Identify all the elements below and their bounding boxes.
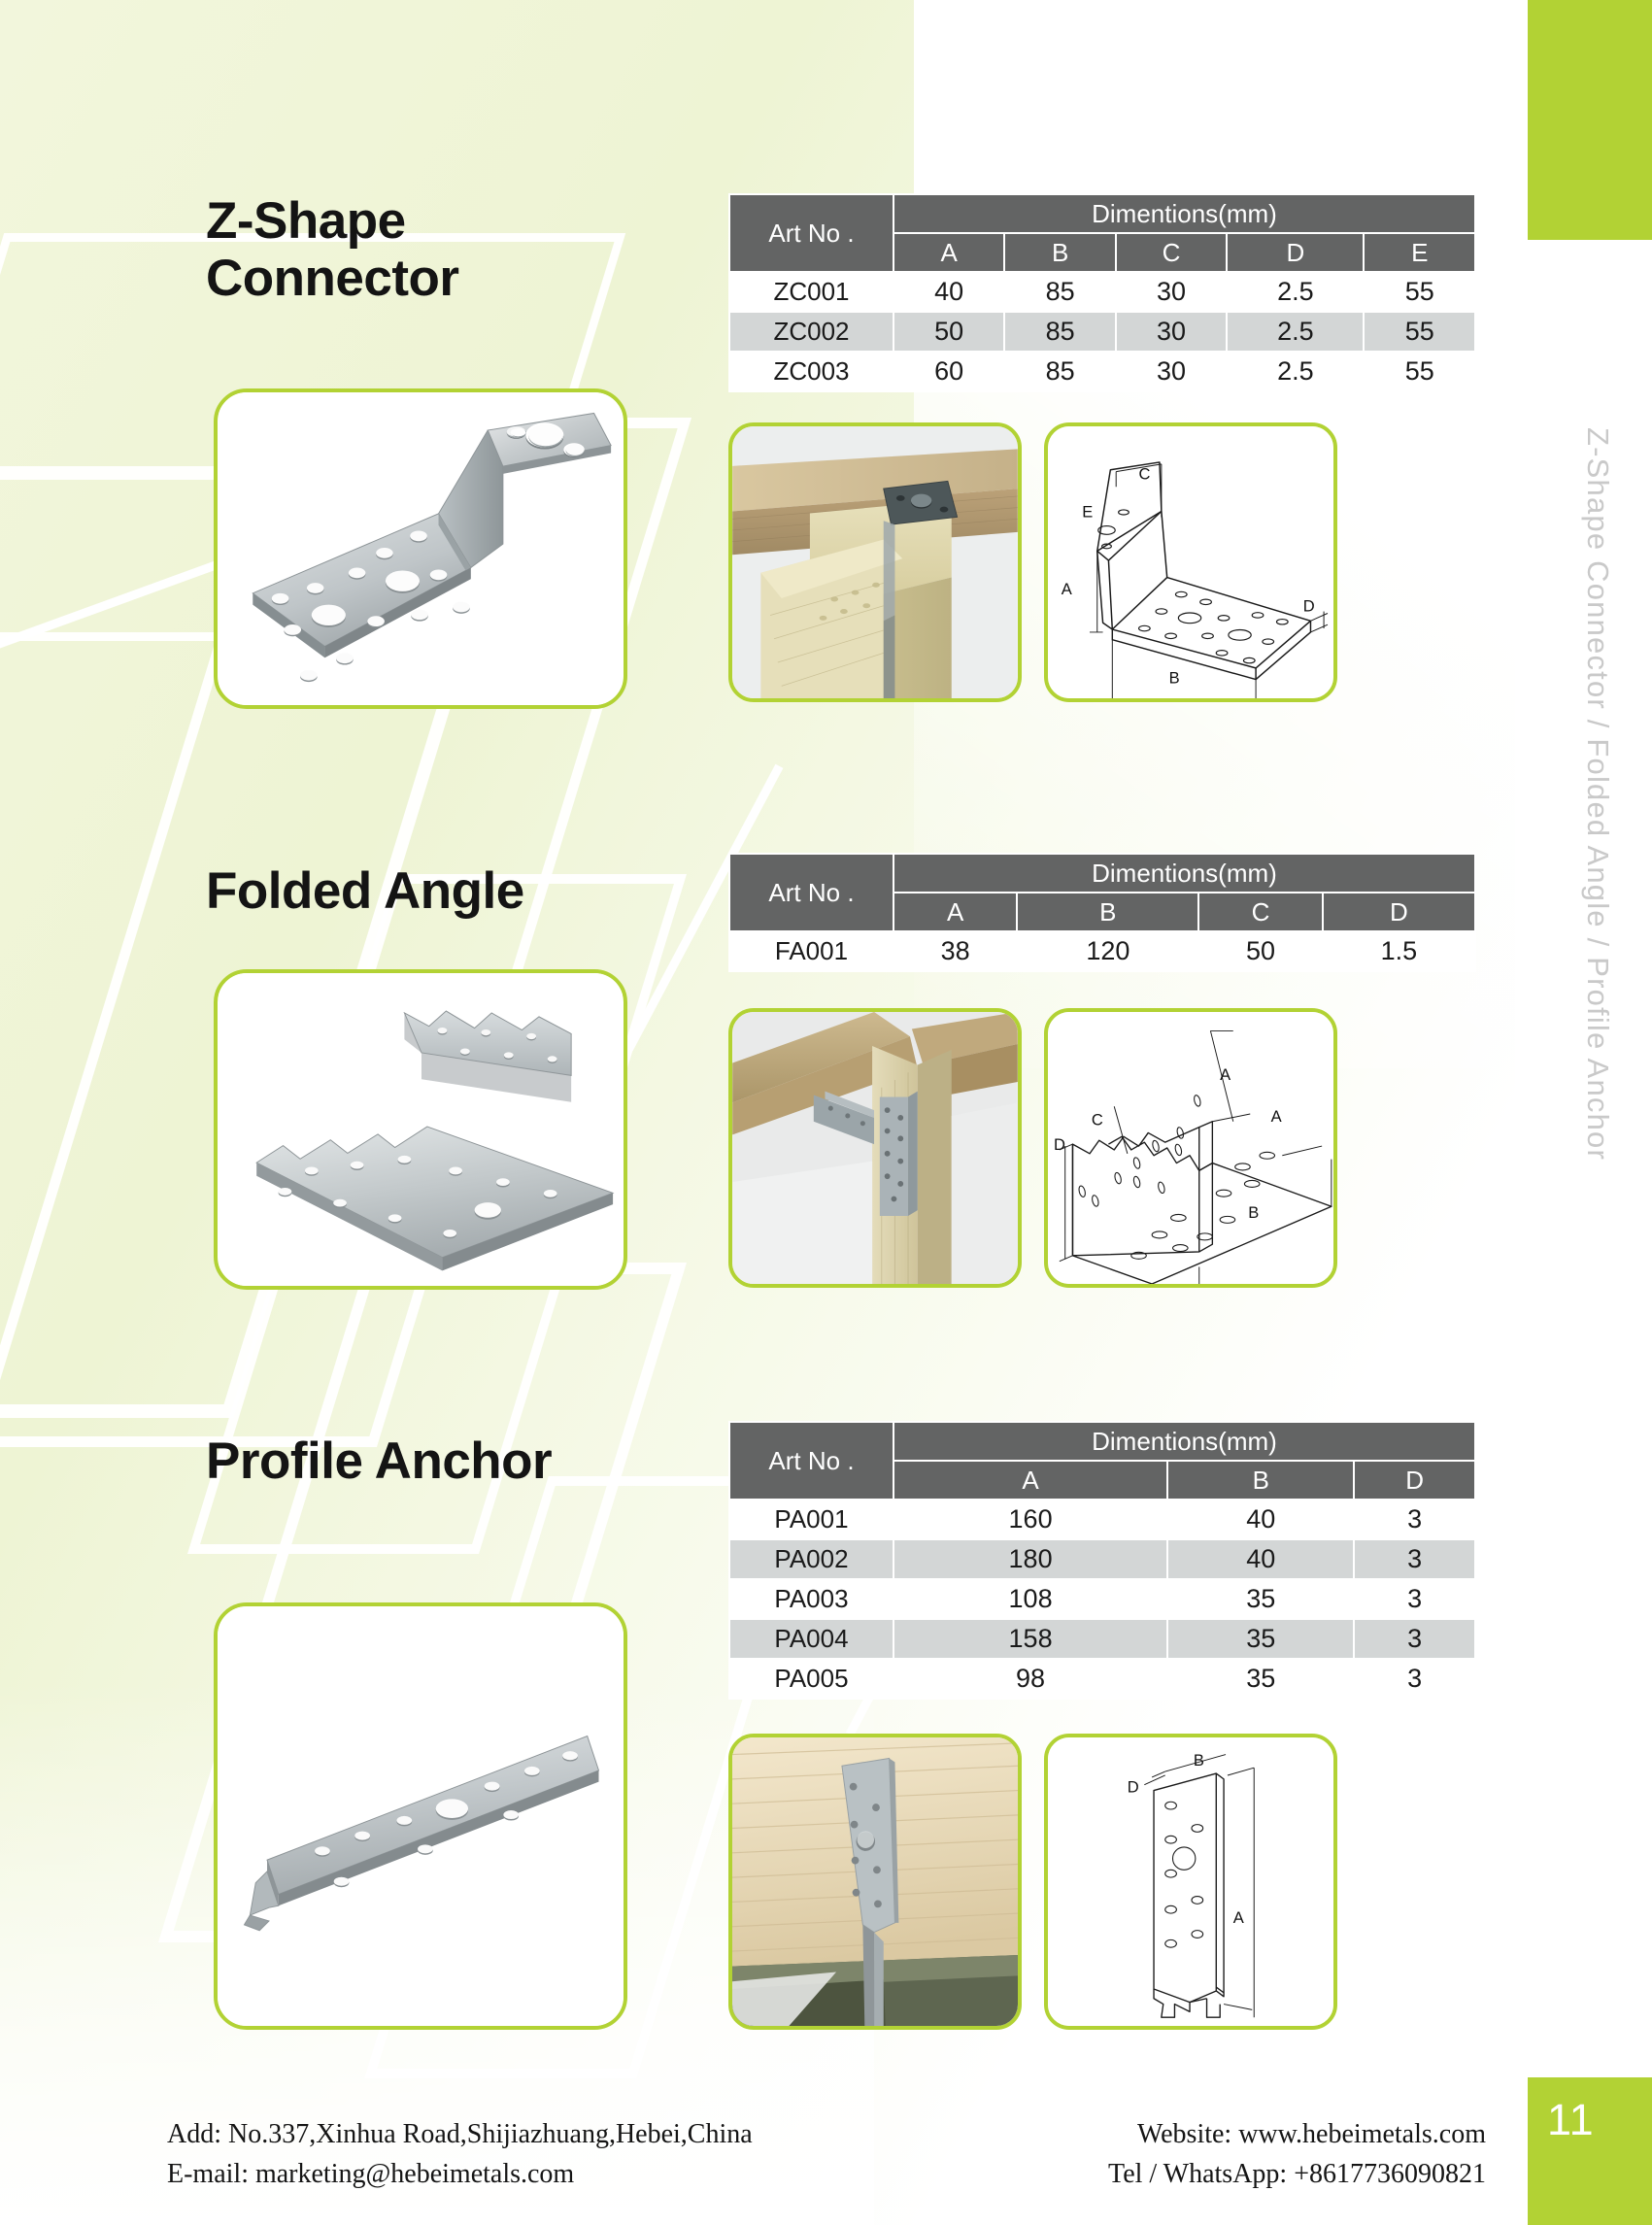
table-header-dim-e: E: [1364, 233, 1475, 272]
cell-art-no: PA001: [729, 1500, 893, 1539]
title-line-2: Connector: [206, 250, 459, 307]
table-header-dim-a: A: [893, 893, 1017, 931]
dim-label-a-horizontal: A: [1271, 1107, 1282, 1126]
cell-art-no: ZC002: [729, 312, 893, 352]
product-photo-profile-anchor: [214, 1602, 627, 2030]
cell-art-no: PA005: [729, 1659, 893, 1699]
cell-dim-d: 2.5: [1227, 272, 1364, 312]
table-header-dim-a: A: [893, 1461, 1167, 1500]
product-photo-folded-angle: [214, 969, 627, 1290]
title-line-1: Folded Angle: [206, 862, 524, 920]
footer-address: Add: No.337,Xinhua Road,Shijiazhuang,Heb…: [167, 2115, 753, 2155]
dim-label-a: A: [1233, 1908, 1244, 1927]
cell-dim-b: 35: [1167, 1659, 1354, 1699]
folded-angle-technical-drawing: A A B C D: [1048, 1012, 1333, 1284]
dim-label-a-vertical: A: [1220, 1065, 1231, 1084]
title-line-1: Z-Shape: [206, 192, 459, 250]
folded-angle-application-photo: [732, 1012, 1018, 1284]
cell-dim-b: 40: [1167, 1500, 1354, 1539]
spec-table-profile-anchor: Art No .Dimentions(mm)ABDPA001160403PA00…: [728, 1421, 1476, 1700]
footer-tel: Tel / WhatsApp: +8617736090821: [991, 2155, 1486, 2195]
dim-label-c: C: [1092, 1111, 1103, 1129]
folded-angle-photo: [218, 973, 624, 1286]
table-header-art-no: Art No .: [729, 1422, 893, 1500]
dim-label-b: B: [1248, 1203, 1259, 1222]
table-header-dimensions: Dimentions(mm): [893, 194, 1475, 233]
table-row: PA00598353: [729, 1659, 1475, 1699]
cell-dim-b: 120: [1017, 931, 1198, 971]
table-header-dimensions: Dimentions(mm): [893, 854, 1475, 893]
cell-dim-a: 160: [893, 1500, 1167, 1539]
dim-label-b: B: [1194, 1751, 1204, 1770]
title-line-1: Profile Anchor: [206, 1433, 552, 1490]
cell-dim-b: 35: [1167, 1579, 1354, 1619]
table-header-dim-d: D: [1354, 1461, 1475, 1500]
cell-dim-d: 3: [1354, 1500, 1475, 1539]
table-header-dim-b: B: [1004, 233, 1115, 272]
dim-label-a: A: [1062, 580, 1072, 598]
cell-dim-e: 55: [1364, 272, 1475, 312]
cell-dim-a: 40: [893, 272, 1004, 312]
technical-drawing-z-shape: A B C D E: [1044, 422, 1337, 702]
cell-dim-a: 38: [893, 931, 1017, 971]
table-row: ZC0025085302.555: [729, 312, 1475, 352]
cell-dim-d: 3: [1354, 1619, 1475, 1659]
table-header-art-no: Art No .: [729, 854, 893, 931]
cell-dim-a: 60: [893, 352, 1004, 391]
cell-dim-a: 50: [893, 312, 1004, 352]
cell-dim-d: 3: [1354, 1579, 1475, 1619]
cell-dim-b: 35: [1167, 1619, 1354, 1659]
z-shape-technical-drawing: A B C D E: [1048, 426, 1333, 698]
table-row: ZC0036085302.555: [729, 352, 1475, 391]
table-header-dim-b: B: [1017, 893, 1198, 931]
cell-dim-c: 50: [1198, 931, 1322, 971]
catalog-page: 11 Z-Shape Connector / Folded Angle / Pr…: [0, 0, 1652, 2225]
cell-dim-c: 30: [1116, 352, 1227, 391]
page-number: 11: [1528, 2077, 1652, 2225]
footer-left: Add: No.337,Xinhua Road,Shijiazhuang,Heb…: [167, 2115, 753, 2194]
dim-label-d: D: [1054, 1135, 1065, 1154]
dim-label-e: E: [1082, 502, 1093, 521]
section-side-label: Z-Shape Connector / Folded Angle / Profi…: [1580, 427, 1615, 1161]
cell-dim-a: 108: [893, 1579, 1167, 1619]
cell-art-no: ZC001: [729, 272, 893, 312]
table-header-dim-b: B: [1167, 1461, 1354, 1500]
spec-table-z-shape: Art No .Dimentions(mm)ABCDEZC0014085302.…: [728, 193, 1476, 392]
profile-anchor-photo: [218, 1606, 624, 2026]
application-photo-folded-angle: [728, 1008, 1022, 1288]
table-header-dim-a: A: [893, 233, 1004, 272]
dim-label-b: B: [1169, 668, 1180, 687]
cell-dim-b: 85: [1004, 272, 1115, 312]
footer-website: Website: www.hebeimetals.com: [991, 2115, 1486, 2155]
footer-email: E-mail: marketing@hebeimetals.com: [167, 2155, 753, 2195]
cell-dim-d: 1.5: [1323, 931, 1475, 971]
cell-dim-b: 40: [1167, 1539, 1354, 1579]
cell-dim-d: 3: [1354, 1659, 1475, 1699]
cell-dim-d: 3: [1354, 1539, 1475, 1579]
table-header-dim-c: C: [1116, 233, 1227, 272]
table-row: FA00138120501.5: [729, 931, 1475, 971]
cell-art-no: PA003: [729, 1579, 893, 1619]
table-header-dimensions: Dimentions(mm): [893, 1422, 1475, 1461]
table-header-art-no: Art No .: [729, 194, 893, 272]
technical-drawing-profile-anchor: A B D: [1044, 1734, 1337, 2030]
cell-dim-b: 85: [1004, 312, 1115, 352]
table-row: PA001160403: [729, 1500, 1475, 1539]
spec-table-folded-angle: Art No .Dimentions(mm)ABCDFA00138120501.…: [728, 853, 1476, 972]
cell-dim-d: 2.5: [1227, 312, 1364, 352]
table-row: PA002180403: [729, 1539, 1475, 1579]
cell-art-no: PA002: [729, 1539, 893, 1579]
cell-dim-a: 158: [893, 1619, 1167, 1659]
cell-dim-a: 180: [893, 1539, 1167, 1579]
table-row: PA003108353: [729, 1579, 1475, 1619]
z-shape-application-photo: [732, 426, 1018, 698]
dim-label-c: C: [1139, 464, 1151, 483]
table-header-dim-d: D: [1323, 893, 1475, 931]
green-bar-top: [1528, 0, 1652, 240]
section-title-z-shape: Z-Shape Connector: [206, 192, 459, 308]
profile-anchor-application-photo: [732, 1737, 1018, 2026]
cell-dim-d: 2.5: [1227, 352, 1364, 391]
cell-dim-e: 55: [1364, 352, 1475, 391]
cell-dim-e: 55: [1364, 312, 1475, 352]
table-header-dim-d: D: [1227, 233, 1364, 272]
cell-dim-b: 85: [1004, 352, 1115, 391]
technical-drawing-folded-angle: A A B C D: [1044, 1008, 1337, 1288]
application-photo-profile-anchor: [728, 1734, 1022, 2030]
z-shape-connector-photo: [218, 392, 624, 705]
footer-right: Website: www.hebeimetals.com Tel / Whats…: [991, 2115, 1486, 2194]
cell-dim-a: 98: [893, 1659, 1167, 1699]
section-title-folded-angle: Folded Angle: [206, 862, 524, 920]
cell-dim-c: 30: [1116, 312, 1227, 352]
table-row: ZC0014085302.555: [729, 272, 1475, 312]
cell-art-no: PA004: [729, 1619, 893, 1659]
application-photo-z-shape: [728, 422, 1022, 702]
cell-art-no: ZC003: [729, 352, 893, 391]
dim-label-d: D: [1128, 1778, 1139, 1797]
table-header-dim-c: C: [1198, 893, 1322, 931]
cell-dim-c: 30: [1116, 272, 1227, 312]
section-title-profile-anchor: Profile Anchor: [206, 1433, 552, 1490]
dim-label-d: D: [1303, 597, 1315, 616]
profile-anchor-technical-drawing: A B D: [1048, 1737, 1333, 2026]
product-photo-z-shape: [214, 388, 627, 709]
table-row: PA004158353: [729, 1619, 1475, 1659]
cell-art-no: FA001: [729, 931, 893, 971]
